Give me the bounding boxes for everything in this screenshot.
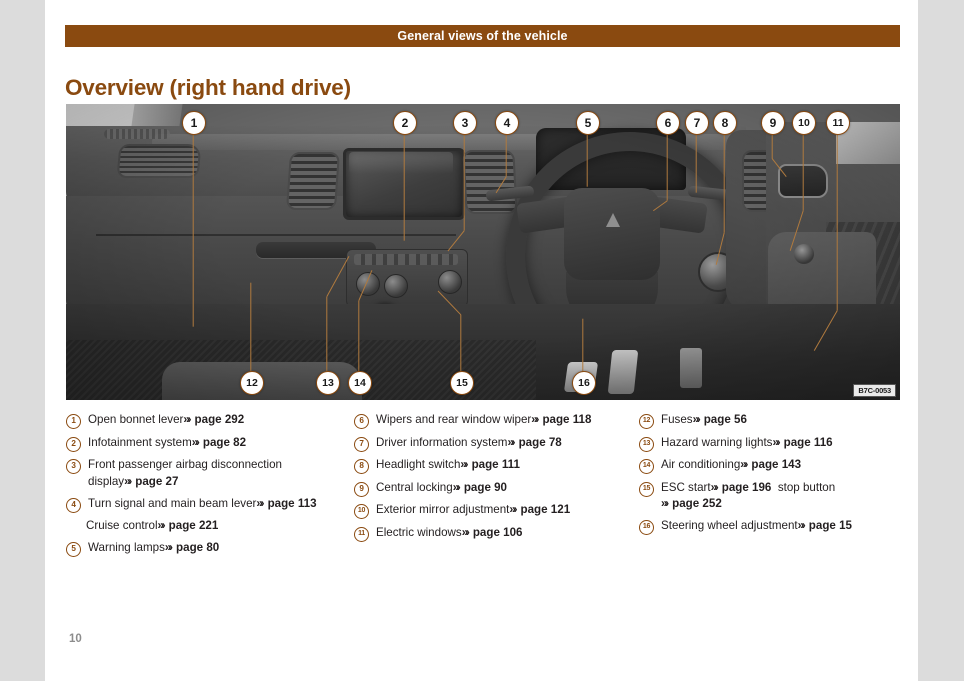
- legend-item-text: Infotainment system»› page 82: [88, 435, 354, 452]
- legend-number-badge: 6: [354, 414, 369, 429]
- page-reference[interactable]: »› page 78: [507, 436, 561, 449]
- legend-item-text: Front passenger airbag disconnection dis…: [88, 457, 354, 490]
- chevron-reference-icon: »›: [453, 481, 459, 494]
- chevron-reference-icon: »›: [693, 413, 699, 426]
- legend-item-text: Hazard warning lights»› page 116: [661, 435, 906, 452]
- legend-item-7[interactable]: 7Driver information system»› page 78: [354, 435, 639, 452]
- page-reference[interactable]: »› page 27: [124, 475, 178, 488]
- callout-leader-line-1-1: [192, 134, 193, 327]
- chevron-reference-icon: »›: [772, 436, 778, 449]
- figure-legend: 1Open bonnet lever»› page 2922Infotainme…: [66, 412, 906, 563]
- legend-item-15[interactable]: 15ESC start»› page 196 stop button»› pag…: [639, 480, 906, 513]
- running-header-title: General views of the vehicle: [397, 29, 567, 43]
- chevron-reference-icon: »›: [507, 436, 513, 449]
- callout-leader-line-12-1: [250, 283, 251, 372]
- chevron-reference-icon: »›: [256, 497, 262, 510]
- legend-item-16[interactable]: 16Steering wheel adjustment»› page 15: [639, 518, 906, 535]
- page-reference[interactable]: »› page 90: [453, 481, 507, 494]
- legend-item-text: Electric windows»› page 106: [376, 525, 639, 542]
- chevron-reference-icon: »›: [124, 475, 130, 488]
- legend-item-text: Turn signal and main beam lever»› page 1…: [88, 496, 354, 513]
- page-reference[interactable]: »› page 111: [460, 458, 520, 471]
- page-reference[interactable]: »› page 15: [798, 519, 852, 532]
- callout-leader-line-14-1: [358, 301, 359, 372]
- chevron-reference-icon: »›: [165, 541, 171, 554]
- legend-item-text: Exterior mirror adjustment»› page 121: [376, 502, 639, 519]
- page-reference[interactable]: »› page 116: [772, 436, 832, 449]
- figure-callout-15[interactable]: 15: [450, 371, 474, 395]
- callout-leader-line-2-1: [403, 134, 404, 241]
- figure-callout-12[interactable]: 12: [240, 371, 264, 395]
- figure-callout-6[interactable]: 6: [656, 111, 680, 135]
- running-header-banner: General views of the vehicle: [65, 25, 900, 47]
- legend-item-text: Wipers and rear window wiper»› page 118: [376, 412, 639, 429]
- legend-number-badge: 4: [66, 498, 81, 513]
- page-reference[interactable]: »› page 292: [183, 413, 244, 426]
- legend-column-3: 12Fuses»› page 5613Hazard warning lights…: [639, 412, 906, 563]
- page-title: Overview (right hand drive): [65, 75, 351, 101]
- legend-item-text: Driver information system»› page 78: [376, 435, 639, 452]
- legend-item-text: ESC start»› page 196 stop button»› page …: [661, 480, 906, 513]
- chevron-reference-icon: »›: [460, 458, 466, 471]
- callout-leader-line-15-1: [460, 315, 461, 372]
- figure-callout-7[interactable]: 7: [685, 111, 709, 135]
- figure-callout-4[interactable]: 4: [495, 111, 519, 135]
- figure-callout-16[interactable]: 16: [572, 371, 596, 395]
- page-reference[interactable]: »› page 113: [256, 497, 316, 510]
- legend-item-5[interactable]: 5Warning lamps»› page 80: [66, 540, 354, 557]
- legend-item-11[interactable]: 11Electric windows»› page 106: [354, 525, 639, 542]
- chevron-reference-icon: »›: [711, 481, 717, 494]
- legend-column-1: 1Open bonnet lever»› page 2922Infotainme…: [66, 412, 354, 563]
- legend-number-badge: 13: [639, 437, 654, 452]
- figure-callout-11[interactable]: 11: [826, 111, 850, 135]
- legend-item-14[interactable]: 14Air conditioning»› page 143: [639, 457, 906, 474]
- legend-item-text: Steering wheel adjustment»› page 15: [661, 518, 906, 535]
- callout-leader-line-10-1: [802, 134, 803, 211]
- legend-number-badge: 2: [66, 437, 81, 452]
- page-reference[interactable]: »› page 80: [165, 541, 219, 554]
- legend-column-2: 6Wipers and rear window wiper»› page 118…: [354, 412, 639, 563]
- page-reference[interactable]: »› page 106: [462, 526, 523, 539]
- legend-item-text: Warning lamps»› page 80: [88, 540, 354, 557]
- legend-item-2[interactable]: 2Infotainment system»› page 82: [66, 435, 354, 452]
- legend-item-6[interactable]: 6Wipers and rear window wiper»› page 118: [354, 412, 639, 429]
- chevron-reference-icon: »›: [740, 458, 746, 471]
- chevron-reference-icon: »›: [192, 436, 198, 449]
- figure-callout-13[interactable]: 13: [316, 371, 340, 395]
- page-reference[interactable]: »› page 56: [693, 413, 747, 426]
- figure-callout-1[interactable]: 1: [182, 111, 206, 135]
- legend-number-badge: 14: [639, 459, 654, 474]
- figure-callout-10[interactable]: 10: [792, 111, 816, 135]
- legend-item-text: Open bonnet lever»› page 292: [88, 412, 354, 429]
- legend-item-text: Air conditioning»› page 143: [661, 457, 906, 474]
- figure-callout-3[interactable]: 3: [453, 111, 477, 135]
- legend-number-badge: 11: [354, 527, 369, 542]
- figure-callout-8[interactable]: 8: [713, 111, 737, 135]
- legend-number-badge: 15: [639, 482, 654, 497]
- chevron-reference-icon: »›: [158, 519, 164, 532]
- callout-leader-line-6-1: [666, 134, 667, 201]
- legend-item-1[interactable]: 1Open bonnet lever»› page 292: [66, 412, 354, 429]
- callout-leader-line-11-1: [836, 134, 837, 311]
- legend-item-9[interactable]: 9Central locking»› page 90: [354, 480, 639, 497]
- page-reference[interactable]: »› page 196: [711, 481, 772, 494]
- callout-leader-line-9-1: [771, 134, 772, 159]
- figure-callout-5[interactable]: 5: [576, 111, 600, 135]
- page-reference[interactable]: »› page 82: [192, 436, 246, 449]
- legend-item-8[interactable]: 8Headlight switch»› page 111: [354, 457, 639, 474]
- callout-leader-line-7-1: [695, 134, 696, 193]
- vehicle-interior-photo: ▲: [66, 104, 900, 400]
- page-reference[interactable]: »› page 143: [740, 458, 801, 471]
- legend-number-badge: 1: [66, 414, 81, 429]
- legend-number-badge: 3: [66, 459, 81, 474]
- legend-number-badge: 12: [639, 414, 654, 429]
- legend-number-badge: 10: [354, 504, 369, 519]
- chevron-reference-icon: »›: [661, 497, 667, 510]
- figure-code-badge: B7C-0053: [853, 384, 896, 397]
- photo-vignette: [66, 104, 900, 400]
- callout-leader-line-8-1: [723, 134, 724, 233]
- chevron-reference-icon: »›: [531, 413, 537, 426]
- callout-leader-line-5-1: [586, 134, 587, 187]
- page-reference[interactable]: »› page 121: [509, 503, 570, 516]
- page-number: 10: [69, 633, 82, 645]
- page-reference[interactable]: »› page 221: [158, 519, 219, 532]
- callout-leader-line-16-1: [582, 319, 583, 372]
- legend-item-4[interactable]: 4Turn signal and main beam lever»› page …: [66, 496, 354, 513]
- legend-number-badge: 16: [639, 520, 654, 535]
- legend-item-text: Fuses»› page 56: [661, 412, 906, 429]
- legend-item-12[interactable]: 12Fuses»› page 56: [639, 412, 906, 429]
- legend-item-13[interactable]: 13Hazard warning lights»› page 116: [639, 435, 906, 452]
- figure-callout-14[interactable]: 14: [348, 371, 372, 395]
- legend-number-badge: 5: [66, 542, 81, 557]
- callout-leader-line-4-1: [505, 134, 506, 177]
- chevron-reference-icon: »›: [798, 519, 804, 532]
- page-reference[interactable]: »› page 252: [661, 497, 722, 510]
- chevron-reference-icon: »›: [509, 503, 515, 516]
- vehicle-interior-figure: ▲ 12345678910111213141516 B7C-0053: [66, 104, 900, 400]
- legend-subitem-4[interactable]: Cruise control»› page 221: [86, 518, 354, 535]
- callout-leader-line-13-1: [326, 297, 327, 372]
- legend-item-3[interactable]: 3Front passenger airbag disconnection di…: [66, 457, 354, 490]
- legend-item-text: Headlight switch»› page 111: [376, 457, 639, 474]
- chevron-reference-icon: »›: [462, 526, 468, 539]
- callout-leader-line-3-1: [463, 134, 464, 231]
- legend-number-badge: 8: [354, 459, 369, 474]
- legend-number-badge: 9: [354, 482, 369, 497]
- legend-item-10[interactable]: 10Exterior mirror adjustment»› page 121: [354, 502, 639, 519]
- chevron-reference-icon: »›: [183, 413, 189, 426]
- legend-item-text: Central locking»› page 90: [376, 480, 639, 497]
- page-reference[interactable]: »› page 118: [531, 413, 591, 426]
- figure-callout-2[interactable]: 2: [393, 111, 417, 135]
- legend-number-badge: 7: [354, 437, 369, 452]
- figure-callout-9[interactable]: 9: [761, 111, 785, 135]
- page-sheet: General views of the vehicle Overview (r…: [45, 0, 918, 681]
